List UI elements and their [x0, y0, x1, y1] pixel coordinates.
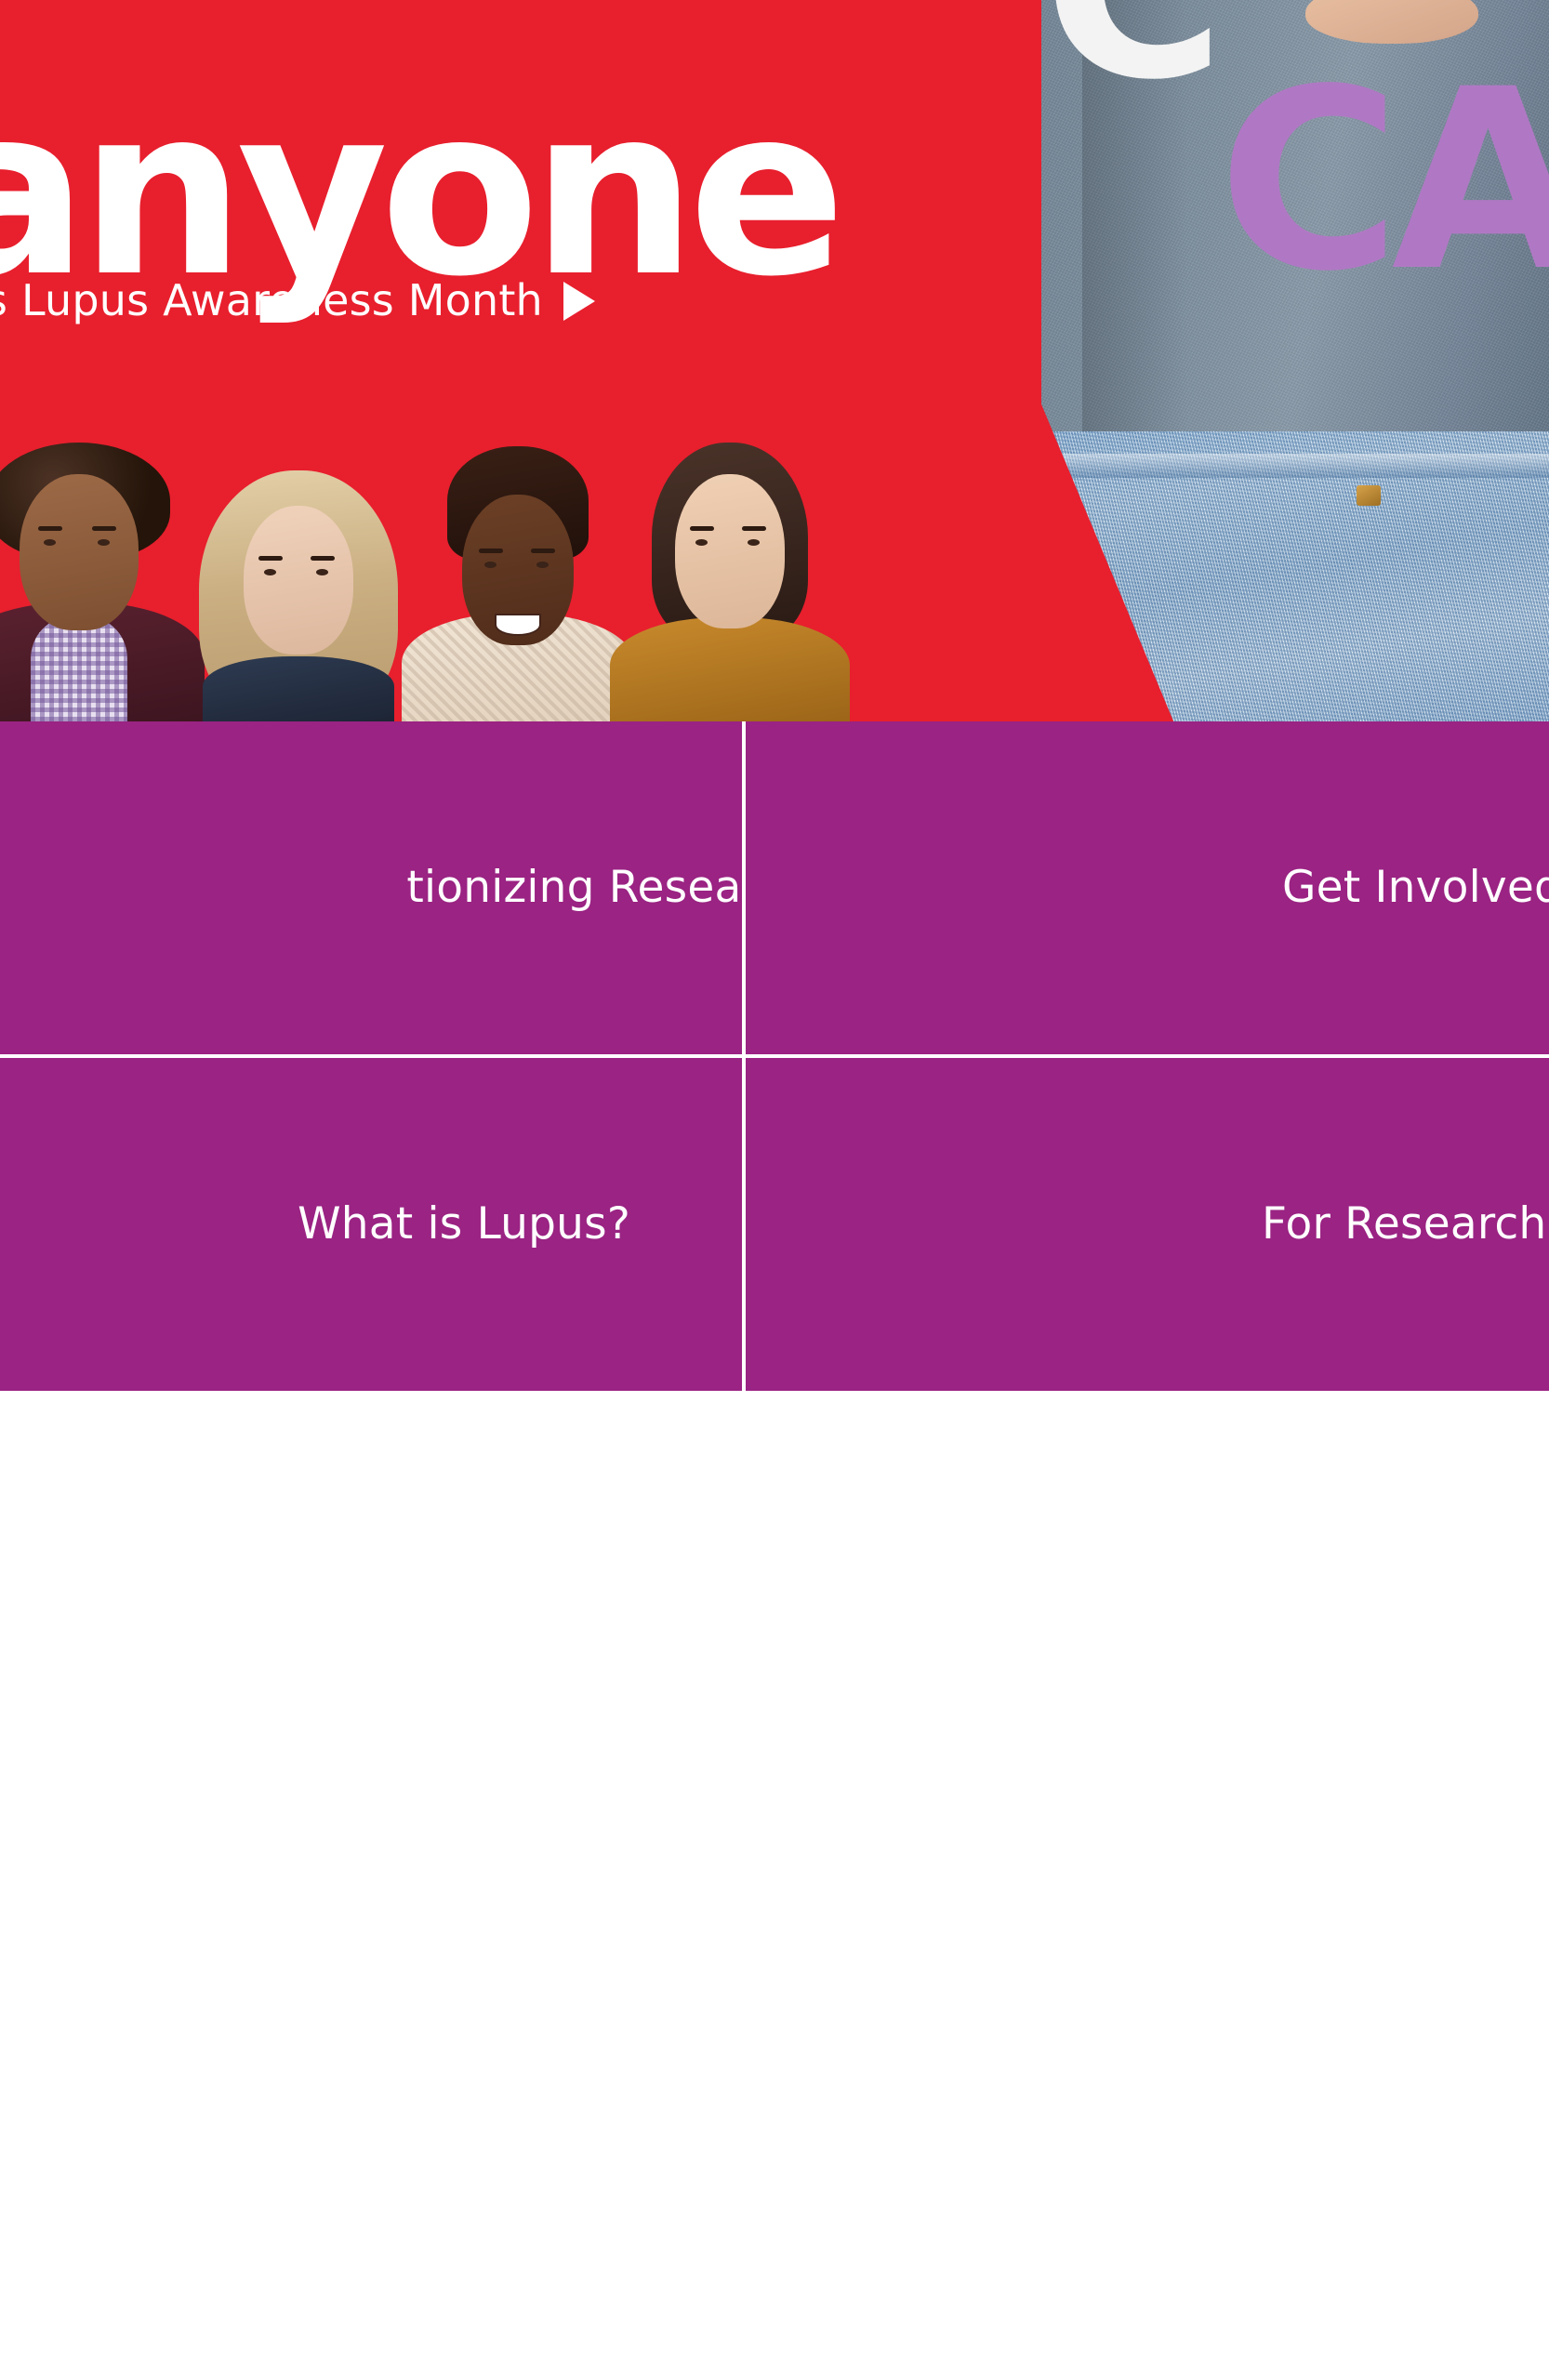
- eye-left: [44, 539, 56, 546]
- tile-label: For Researcher: [1262, 1201, 1549, 1247]
- hero-subtitle-row[interactable]: s Lupus Awareness Month: [0, 279, 595, 322]
- tile-what-is-lupus[interactable]: What is Lupus?: [0, 1058, 742, 1391]
- quick-links-tile-grid: tionizing Research Get Involved What is …: [0, 721, 1549, 1391]
- portrait-woman-blonde: [182, 470, 415, 721]
- page-body-empty-area: [0, 1391, 1549, 2380]
- hero-overlay-purple-letters: CA: [1218, 80, 1549, 284]
- play-triangle-icon[interactable]: [563, 282, 595, 321]
- head-shape: [244, 506, 353, 654]
- brow-left: [258, 556, 283, 561]
- eye-left: [695, 539, 708, 546]
- hero-overlay-white-letter: C: [1042, 0, 1216, 93]
- tile-label: What is Lupus?: [298, 1201, 630, 1247]
- brow-left: [479, 549, 503, 553]
- head-shape: [20, 474, 139, 630]
- portrait-woman-bob: [614, 443, 846, 721]
- smile-shape: [495, 614, 541, 636]
- eye-right: [316, 569, 328, 575]
- hero-subtitle: s Lupus Awareness Month: [0, 279, 543, 322]
- body-shape: [203, 656, 394, 721]
- body-shape: [610, 617, 850, 721]
- tile-for-researchers[interactable]: For Researcher: [746, 1058, 1549, 1391]
- hero-headline: anyone: [0, 76, 838, 309]
- hero-banner: C CA anyone s Lupus Awareness Month: [0, 0, 1549, 721]
- brow-right: [311, 556, 335, 561]
- tile-label: Get Involved: [1282, 865, 1549, 910]
- tile-get-involved[interactable]: Get Involved: [746, 721, 1549, 1054]
- eye-left: [484, 562, 496, 568]
- eye-right: [748, 539, 760, 546]
- brow-right: [92, 526, 116, 531]
- tile-label: tionizing Research: [406, 865, 742, 910]
- brow-left: [38, 526, 62, 531]
- eye-left: [264, 569, 276, 575]
- head-shape: [675, 474, 785, 628]
- portrait-man-curly-hair: [0, 443, 195, 721]
- eye-right: [536, 562, 549, 568]
- brow-left: [690, 526, 714, 531]
- brow-right: [742, 526, 766, 531]
- portrait-row: [0, 443, 1041, 721]
- shirt-shape: [31, 617, 127, 721]
- tile-revolutionizing-research[interactable]: tionizing Research: [0, 721, 742, 1054]
- brow-right: [531, 549, 555, 553]
- portrait-woman-smiling: [402, 446, 634, 721]
- eye-right: [98, 539, 110, 546]
